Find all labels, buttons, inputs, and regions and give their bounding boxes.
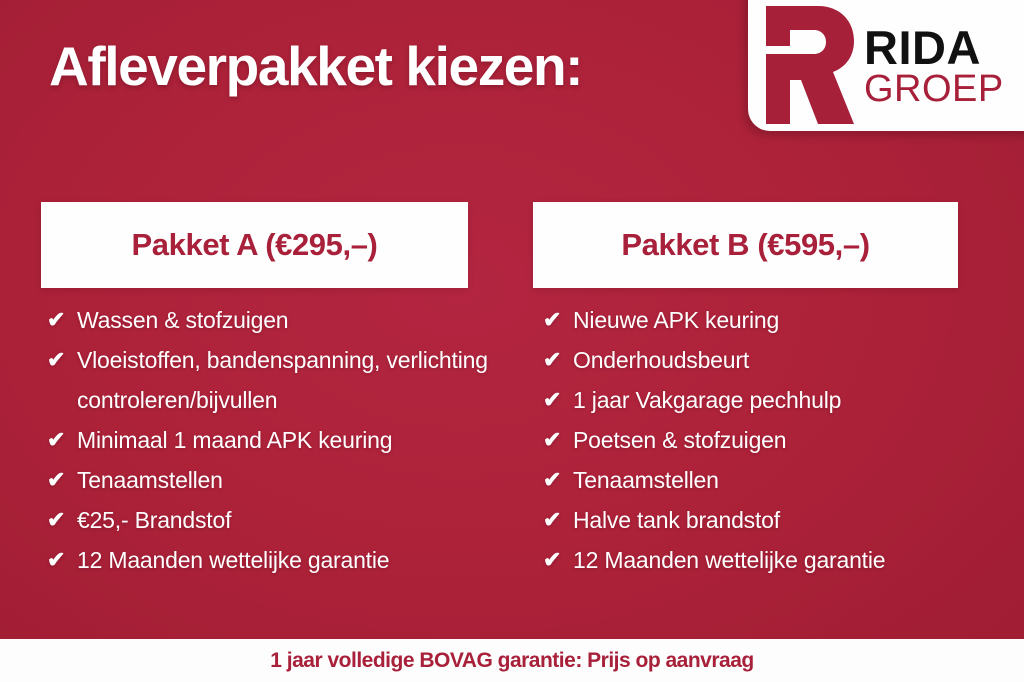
footer-text: 1 jaar volledige BOVAG garantie: Prijs o… [270, 649, 753, 673]
feature-text: 12 Maanden wettelijke garantie [573, 540, 1024, 580]
check-icon: ✔ [543, 420, 573, 460]
list-item: ✔ Minimaal 1 maand APK keuring [41, 420, 517, 460]
check-icon: ✔ [543, 300, 573, 340]
package-b-title: Pakket B (€595,–) [621, 227, 869, 263]
list-item: ✔ 12 Maanden wettelijke garantie [41, 540, 517, 580]
feature-text: Minimaal 1 maand APK keuring [77, 420, 517, 460]
package-column-b: Pakket B (€595,–) ✔ Nieuwe APK keuring ✔… [517, 202, 1024, 580]
package-a-title: Pakket A (€295,–) [132, 227, 378, 263]
rida-groep-logo: RIDA GROEP [748, 0, 1024, 131]
list-item: ✔ Nieuwe APK keuring [533, 300, 1024, 340]
feature-text: Vloeistoffen, bandenspanning, verlichtin… [77, 340, 517, 420]
check-icon: ✔ [543, 540, 573, 580]
check-icon: ✔ [47, 340, 77, 380]
page-title: Afleverpakket kiezen: [49, 34, 582, 98]
package-a-header: Pakket A (€295,–) [41, 202, 468, 288]
check-icon: ✔ [543, 500, 573, 540]
feature-text: €25,- Brandstof [77, 500, 517, 540]
package-column-a: Pakket A (€295,–) ✔ Wassen & stofzuigen … [0, 202, 517, 580]
list-item: ✔ Poetsen & stofzuigen [533, 420, 1024, 460]
feature-text: 12 Maanden wettelijke garantie [77, 540, 517, 580]
check-icon: ✔ [47, 420, 77, 460]
logo-primary-text: RIDA [864, 26, 1004, 69]
footer-bar: 1 jaar volledige BOVAG garantie: Prijs o… [0, 639, 1024, 682]
check-icon: ✔ [543, 380, 573, 420]
list-item: ✔ Vloeistoffen, bandenspanning, verlicht… [41, 340, 517, 420]
rida-r-mark-icon [762, 6, 854, 124]
package-a-feature-list: ✔ Wassen & stofzuigen ✔ Vloeistoffen, ba… [41, 300, 517, 580]
list-item: ✔ Tenaamstellen [41, 460, 517, 500]
afleverpakket-poster: Afleverpakket kiezen: RIDA GROEP Pakket … [0, 0, 1024, 682]
logo-wordmark: RIDA GROEP [864, 26, 1004, 106]
check-icon: ✔ [47, 500, 77, 540]
check-icon: ✔ [543, 460, 573, 500]
logo-secondary-text: GROEP [864, 72, 1004, 107]
package-b-header: Pakket B (€595,–) [533, 202, 958, 288]
check-icon: ✔ [543, 340, 573, 380]
feature-text: Tenaamstellen [77, 460, 517, 500]
list-item: ✔ Wassen & stofzuigen [41, 300, 517, 340]
feature-text: Tenaamstellen [573, 460, 1024, 500]
check-icon: ✔ [47, 460, 77, 500]
feature-text: Onderhoudsbeurt [573, 340, 1024, 380]
list-item: ✔ 1 jaar Vakgarage pechhulp [533, 380, 1024, 420]
feature-text: Poetsen & stofzuigen [573, 420, 1024, 460]
feature-text: Wassen & stofzuigen [77, 300, 517, 340]
check-icon: ✔ [47, 300, 77, 340]
check-icon: ✔ [47, 540, 77, 580]
list-item: ✔ Halve tank brandstof [533, 500, 1024, 540]
feature-text: Halve tank brandstof [573, 500, 1024, 540]
list-item: ✔ €25,- Brandstof [41, 500, 517, 540]
list-item: ✔ Tenaamstellen [533, 460, 1024, 500]
feature-text: Nieuwe APK keuring [573, 300, 1024, 340]
package-b-feature-list: ✔ Nieuwe APK keuring ✔ Onderhoudsbeurt ✔… [533, 300, 1024, 580]
list-item: ✔ Onderhoudsbeurt [533, 340, 1024, 380]
feature-text: 1 jaar Vakgarage pechhulp [573, 380, 1024, 420]
list-item: ✔ 12 Maanden wettelijke garantie [533, 540, 1024, 580]
packages-container: Pakket A (€295,–) ✔ Wassen & stofzuigen … [0, 202, 1024, 580]
